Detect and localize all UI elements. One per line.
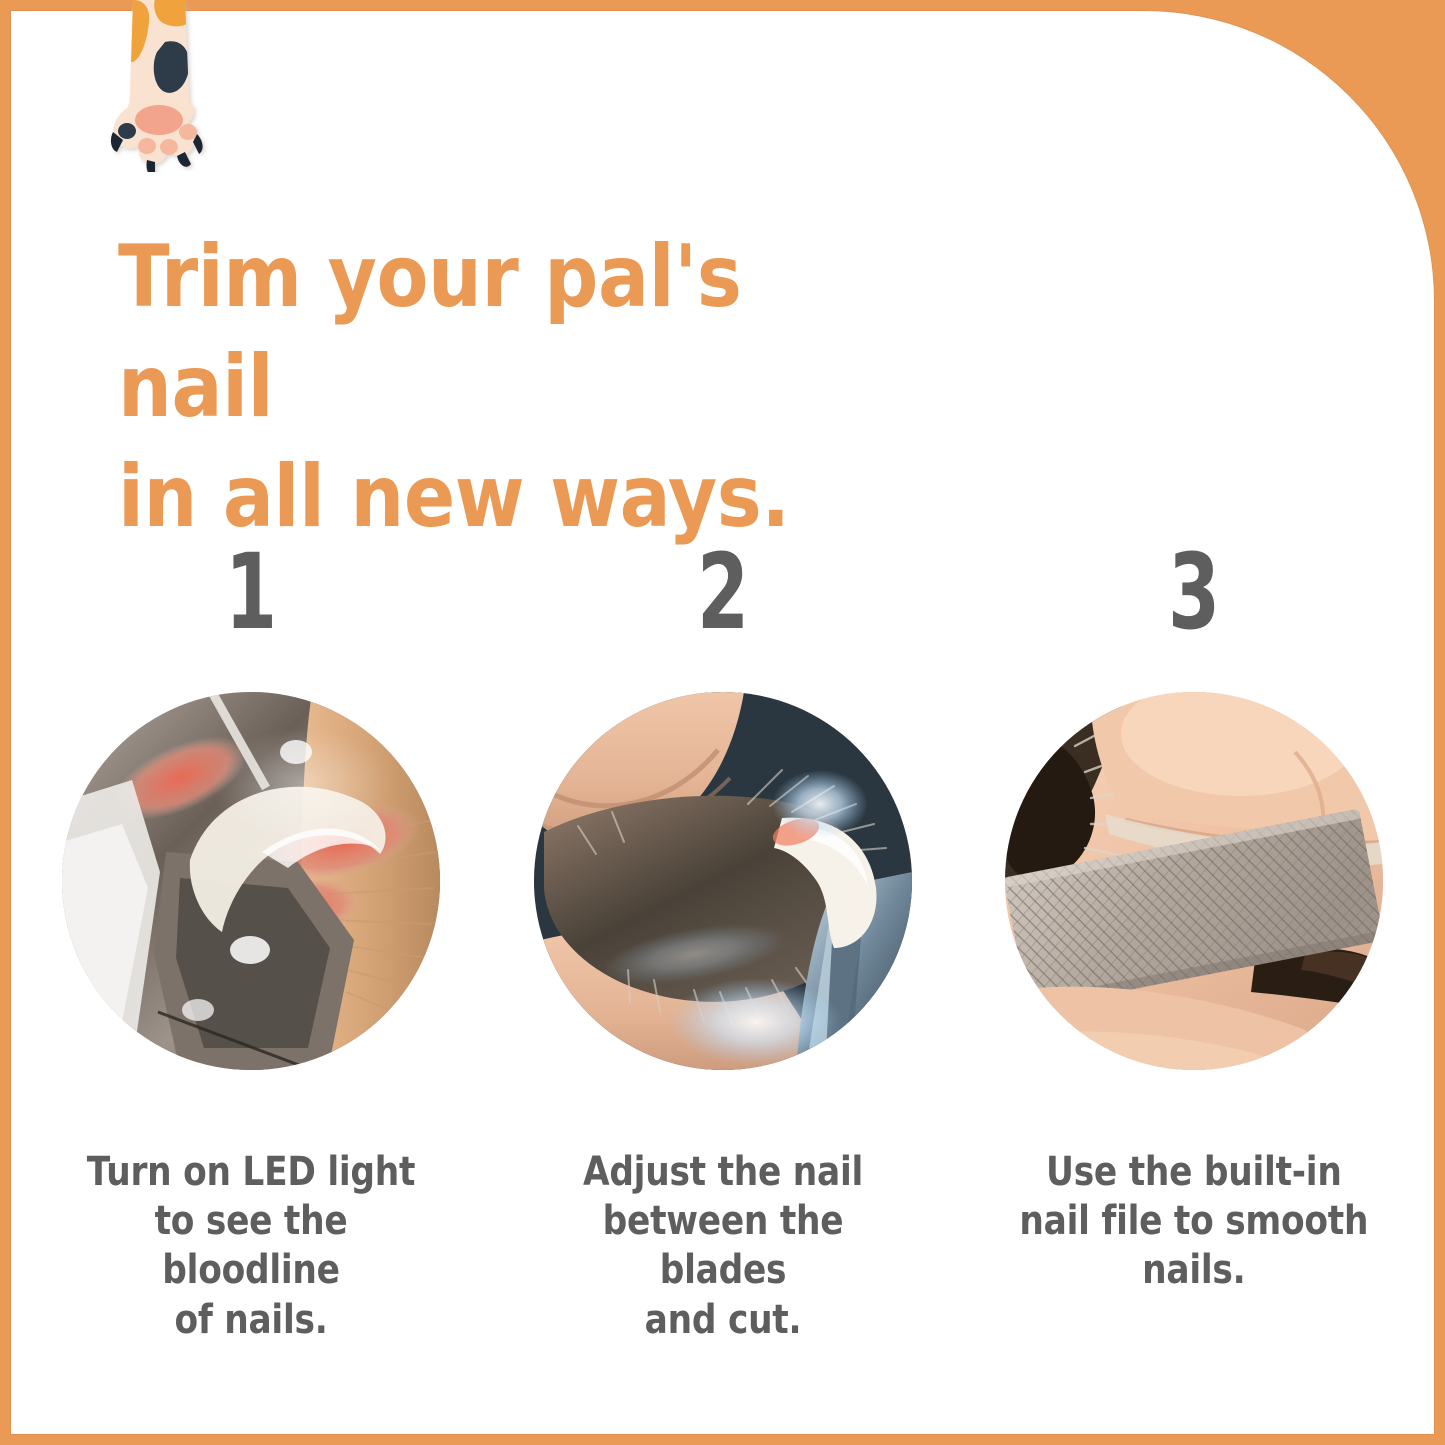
nail-file-photo xyxy=(1005,692,1383,1070)
steps-row: 1 xyxy=(36,540,1409,1345)
adjust-nail-photo xyxy=(534,692,912,1070)
step-number-3: 3 xyxy=(1168,540,1219,644)
cat-paw-icon xyxy=(99,0,221,172)
page-title: Trim your pal's nail in all new ways. xyxy=(118,222,910,552)
step-caption-2: Adjust the nail between the blades and c… xyxy=(538,1148,908,1345)
led-bloodline-photo xyxy=(62,692,440,1070)
step-number-1: 1 xyxy=(225,540,276,644)
step-caption-3: Use the built-in nail file to smooth nai… xyxy=(1020,1148,1369,1296)
step-number-2: 2 xyxy=(697,540,748,644)
poster-root: Trim your pal's nail in all new ways. 1 xyxy=(0,0,1445,1445)
step-1: 1 xyxy=(36,540,466,1345)
step-caption-1: Turn on LED light to see the bloodline o… xyxy=(66,1148,436,1345)
step-3: 3 xyxy=(979,540,1409,1296)
step-2: 2 xyxy=(508,540,938,1345)
